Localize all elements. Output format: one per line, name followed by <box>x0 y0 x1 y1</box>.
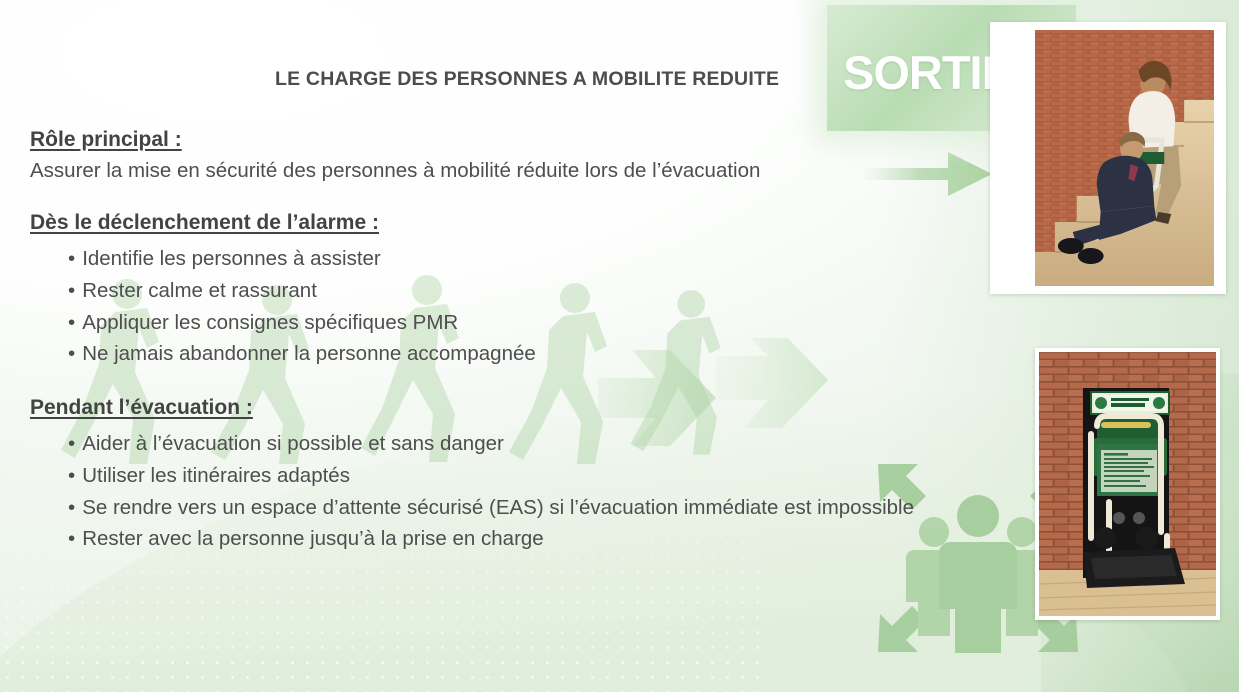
slide-canvas: SORTIE <box>0 0 1239 692</box>
bullet-glyph: • <box>68 432 75 455</box>
bullet-glyph: • <box>68 311 75 334</box>
bullet-glyph: • <box>68 279 75 302</box>
list-item-label: Rester avec la personne jusqu’à la prise… <box>82 527 544 550</box>
bullet-glyph: • <box>68 527 75 550</box>
list-item-label: Identifie les personnes à assister <box>82 247 381 270</box>
list-item: •Aider à l’évacuation si possible et san… <box>68 428 1040 460</box>
photo-folded-evacuation-chair <box>1035 348 1220 620</box>
section-heading: Rôle principal : <box>30 128 182 152</box>
list-item: •Se rendre vers un espace d’attente sécu… <box>68 492 1040 524</box>
list-item-label: Appliquer les consignes spécifiques PMR <box>82 311 458 334</box>
bullet-list: •Aider à l’évacuation si possible et san… <box>30 428 1040 555</box>
page-title: LE CHARGE DES PERSONNES A MOBILITE REDUI… <box>275 68 895 91</box>
list-item: •Ne jamais abandonner la personne accomp… <box>68 338 1040 370</box>
list-item: •Appliquer les consignes spécifiques PMR <box>68 307 1040 339</box>
bullet-list: •Identifie les personnes à assister •Res… <box>30 243 1040 370</box>
section-des-le-declenchement: Dès le déclenchement de l’alarme : •Iden… <box>30 211 1040 370</box>
list-item-label: Rester calme et rassurant <box>82 279 317 302</box>
spacer <box>30 185 1040 211</box>
list-item-label: Utiliser les itinéraires adaptés <box>82 464 350 487</box>
section-pendant-evacuation: Pendant l’évacuation : •Aider à l’évacua… <box>30 396 1040 555</box>
list-item: •Identifie les personnes à assister <box>68 243 1040 275</box>
section-heading: Pendant l’évacuation : <box>30 396 253 420</box>
list-item-label: Se rendre vers un espace d’attente sécur… <box>82 496 914 519</box>
list-item: •Rester avec la personne jusqu’à la pris… <box>68 523 1040 555</box>
list-item-label: Aider à l’évacuation si possible et sans… <box>82 432 504 455</box>
bullet-glyph: • <box>68 247 75 270</box>
list-item: •Utiliser les itinéraires adaptés <box>68 460 1040 492</box>
spacer <box>30 370 1040 396</box>
list-item: •Rester calme et rassurant <box>68 275 1040 307</box>
bullet-glyph: • <box>68 496 75 519</box>
bullet-glyph: • <box>68 342 75 365</box>
list-item-label: Ne jamais abandonner la personne accompa… <box>82 342 536 365</box>
section-paragraph: Assurer la mise en sécurité des personne… <box>30 156 1040 185</box>
bullet-glyph: • <box>68 464 75 487</box>
slide-body: Rôle principal : Assurer la mise en sécu… <box>30 128 1040 555</box>
section-heading: Dès le déclenchement de l’alarme : <box>30 211 379 235</box>
section-role-principal: Rôle principal : Assurer la mise en sécu… <box>30 128 1040 185</box>
